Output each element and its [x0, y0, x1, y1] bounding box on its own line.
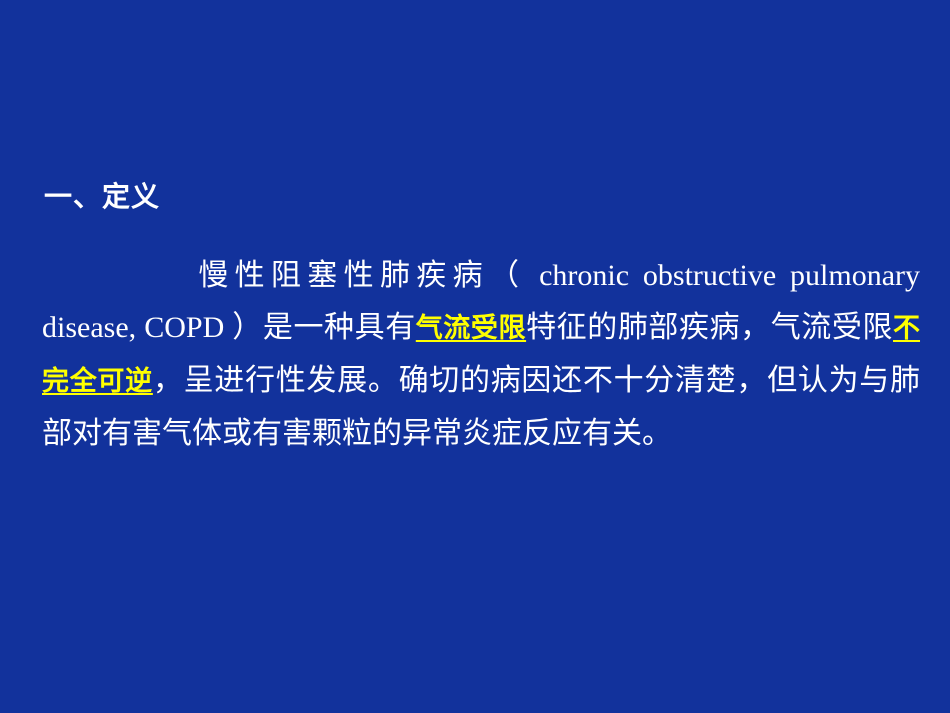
- slide-body-text: 慢性阻塞性肺疾病（ chronic obstructive pulmonary …: [42, 250, 920, 460]
- page-title: 一、定义: [44, 175, 160, 215]
- body-segment-2: 特征的肺部疾病，气流受限: [526, 311, 893, 344]
- highlight-airflow-limitation: 气流受限: [416, 313, 526, 344]
- presentation-slide: 一、定义 慢性阻塞性肺疾病（ chronic obstructive pulmo…: [0, 0, 950, 713]
- body-segment-3: ，呈进行性发展。确切的病因还不十分清楚，但认为与肺部对有害气体或有害颗粒的异常炎…: [42, 364, 920, 450]
